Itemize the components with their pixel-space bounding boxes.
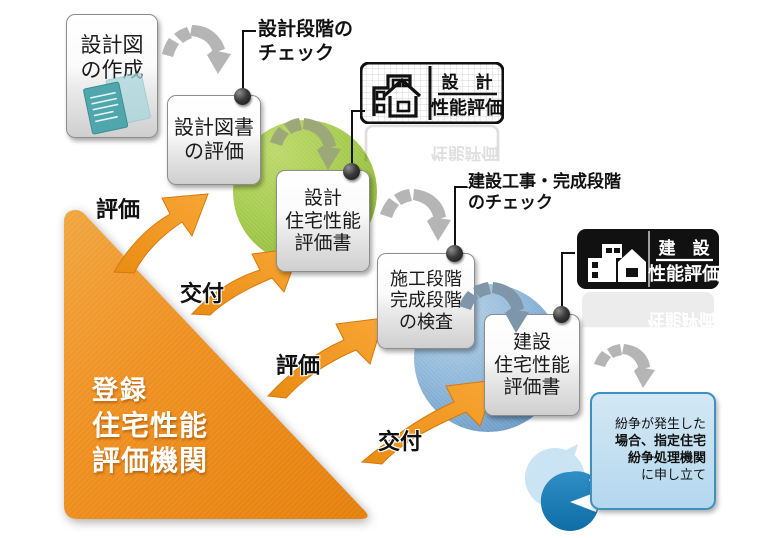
flow-arrow-2-icon bbox=[262, 118, 342, 194]
leader-elbow-construction-check bbox=[454, 186, 468, 188]
knob-construction-performance-report bbox=[553, 306, 570, 323]
box-design-drawing-creation[interactable]: 設計図 の作成 bbox=[66, 14, 158, 138]
flow-arrow-3-icon bbox=[372, 188, 452, 264]
dispute-resolution-box[interactable]: 紛争が発生した 場合、指定住宅 紛争処理機関 に申し立て bbox=[590, 392, 716, 510]
flow-arrow-1-icon bbox=[152, 24, 232, 98]
construction-badge-graphic: 建 設 性能評価 bbox=[576, 228, 720, 290]
flow-arrow-5-icon bbox=[588, 344, 656, 404]
box-line: 評価書 bbox=[294, 232, 351, 254]
box-design-document-evaluation[interactable]: 設計図書 の評価 bbox=[167, 95, 261, 185]
dispute-line: 場合、指定住宅 bbox=[615, 434, 706, 451]
svg-text:性能評価: 性能評価 bbox=[648, 310, 715, 327]
dispute-line: 紛争処理機関 bbox=[628, 451, 706, 468]
callout-line: チェック bbox=[258, 42, 353, 66]
badge-top-label: 設 計 bbox=[442, 72, 493, 93]
leader-line-construction-check bbox=[454, 186, 456, 248]
box-line: 設計図書 bbox=[174, 116, 254, 140]
box-line: の評価 bbox=[184, 140, 244, 164]
dispute-line: に申し立て bbox=[641, 468, 706, 485]
diagram-canvas: 登録 住宅性能 評価機関 評価 交付 評価 交付 設計図 の作成 bbox=[0, 0, 770, 538]
triangle-line-1: 登録 bbox=[92, 375, 208, 408]
leader-line-design-badge bbox=[351, 110, 353, 166]
box-line: 住宅性能 bbox=[285, 210, 361, 232]
callout-construction-stage-check: 建設工事・完成段階 のチェック bbox=[468, 172, 621, 215]
triangle-label: 登録 住宅性能 評価機関 bbox=[92, 375, 208, 478]
box-line: 設計図 bbox=[81, 33, 144, 58]
callout-design-stage-check: 設計段階の チェック bbox=[258, 18, 353, 66]
callout-line: 設計段階の bbox=[258, 18, 353, 42]
flow-label-delivery-2: 交付 bbox=[378, 424, 422, 456]
design-badge-graphic: 設 計 性能評価 bbox=[360, 62, 504, 124]
construction-badge-reflection: 性能評価 bbox=[576, 290, 720, 327]
badge-design-performance: 設 計 性能評価 性能評価 bbox=[360, 62, 504, 124]
badge-top-label: 建 設 bbox=[659, 238, 711, 259]
leader-line-design-check bbox=[242, 30, 244, 96]
svg-text:性能評価: 性能評価 bbox=[431, 144, 498, 161]
callout-line: 建設工事・完成段階 bbox=[468, 172, 621, 193]
badge-bottom-label: 性能評価 bbox=[648, 263, 720, 285]
documents-icon bbox=[75, 73, 155, 135]
badge-construction-performance: 建 設 性能評価 性能評価 bbox=[576, 228, 720, 290]
triangle-line-2: 住宅性能 bbox=[92, 408, 208, 443]
dispute-line: 紛争が発生した bbox=[615, 417, 706, 434]
knob-construction-stage-inspection bbox=[446, 245, 463, 262]
flow-label-evaluation-2: 評価 bbox=[276, 348, 320, 380]
flow-label-evaluation-1: 評価 bbox=[96, 192, 140, 224]
box-line: 評価書 bbox=[503, 376, 560, 398]
badge-bottom-label: 性能評価 bbox=[431, 97, 503, 119]
flow-label-delivery-1: 交付 bbox=[180, 276, 224, 308]
callout-line: のチェック bbox=[468, 193, 621, 214]
box-line: 住宅性能 bbox=[494, 354, 570, 376]
leader-line-construction-badge bbox=[561, 252, 563, 308]
leader-elbow-design-check bbox=[242, 30, 256, 32]
leader-elbow-construction-badge bbox=[561, 252, 575, 254]
knob-design-performance-report bbox=[343, 163, 360, 180]
box-line: の検査 bbox=[399, 312, 453, 333]
leader-elbow-design-badge bbox=[351, 110, 365, 112]
triangle-line-3: 評価機関 bbox=[92, 443, 208, 478]
design-badge-reflection: 性能評価 bbox=[360, 124, 504, 161]
flow-arrow-4-icon bbox=[452, 282, 530, 356]
knob-design-document-evaluation bbox=[234, 88, 251, 105]
